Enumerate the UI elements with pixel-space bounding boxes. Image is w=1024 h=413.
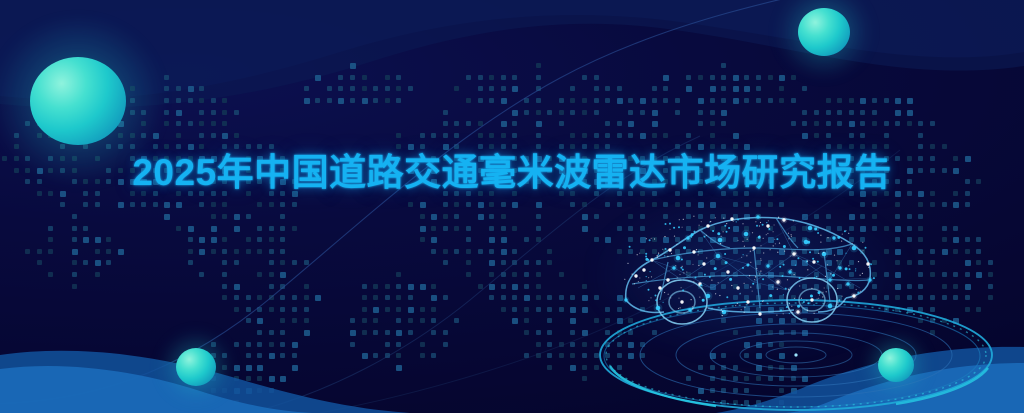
car-particle <box>867 277 874 284</box>
car-particle <box>639 253 640 254</box>
car-particle <box>632 274 633 275</box>
car-particle <box>685 235 692 242</box>
car-particle <box>665 223 667 225</box>
car-particle <box>719 295 720 296</box>
car-particle <box>770 249 771 250</box>
car-particle <box>755 221 756 222</box>
car-particle <box>735 305 736 306</box>
car-particle <box>650 258 653 261</box>
car-particle <box>682 227 683 228</box>
car-particle <box>704 292 713 301</box>
car-particle <box>816 276 817 277</box>
car-particle <box>731 285 732 286</box>
car-particle <box>711 280 712 281</box>
car-particle <box>774 239 775 240</box>
car-particle <box>706 257 707 258</box>
car-particle <box>646 276 647 277</box>
car-particle <box>700 284 702 286</box>
car-particle <box>668 294 669 295</box>
car-particle <box>658 253 659 254</box>
car-particle <box>741 309 742 310</box>
car-particle <box>817 232 819 234</box>
car-particle <box>788 233 789 234</box>
car-particle <box>743 254 744 255</box>
car-particle <box>678 298 679 299</box>
car-particle <box>795 265 796 266</box>
car-particle <box>860 275 861 276</box>
car-particle <box>841 241 842 242</box>
car-particle <box>763 300 764 301</box>
car-particle <box>693 216 694 217</box>
car-particle <box>726 223 727 224</box>
car-particle <box>729 278 732 281</box>
car-particle <box>819 294 820 295</box>
car-particle <box>692 250 695 253</box>
car-particle <box>645 258 648 261</box>
car-particle <box>822 292 823 293</box>
car-particle <box>681 287 682 288</box>
car-particle <box>744 283 745 284</box>
glow-orb-bottom-left <box>176 348 216 386</box>
car-particle <box>814 277 816 279</box>
car-particle <box>813 304 814 305</box>
car-particle <box>788 290 789 291</box>
car-particle <box>645 253 647 255</box>
car-particle <box>783 313 784 314</box>
car-particle <box>831 235 838 242</box>
car-particle <box>673 227 675 229</box>
car-particle <box>834 255 835 256</box>
car-particle <box>742 267 744 269</box>
car-particle <box>752 283 754 285</box>
car-particle <box>637 254 638 255</box>
car-particle <box>768 228 770 230</box>
car-particle <box>683 246 686 249</box>
car-particle <box>780 309 782 311</box>
car-particle <box>709 276 711 278</box>
car-particle <box>862 242 863 243</box>
car-particle <box>714 267 717 270</box>
car-particle <box>721 236 722 237</box>
car-particle <box>791 234 792 235</box>
car-particle <box>756 225 758 227</box>
car-particle <box>717 232 720 235</box>
car-particle <box>810 298 813 301</box>
car-particle <box>775 279 782 286</box>
car-particle <box>779 243 780 244</box>
car-particle <box>774 224 775 225</box>
car-particle <box>851 293 858 300</box>
car-particle <box>773 245 774 246</box>
car-particle <box>806 224 815 233</box>
car-particle <box>747 239 748 240</box>
car-particle <box>838 266 839 267</box>
car-particle <box>664 255 665 256</box>
glow-orb-top-left <box>30 57 126 145</box>
car-particle <box>782 275 784 277</box>
car-particle <box>807 269 808 270</box>
car-particle <box>669 229 670 230</box>
car-particle <box>820 242 821 243</box>
car-particle <box>678 226 680 228</box>
car-particle <box>749 275 750 276</box>
car-particle <box>742 241 743 242</box>
orb-core <box>798 8 850 56</box>
car-particle <box>658 254 659 255</box>
car-particle <box>752 246 755 249</box>
car-particle <box>694 231 696 233</box>
car-particle <box>671 265 678 272</box>
car-particle <box>795 253 796 254</box>
car-particle <box>842 234 843 235</box>
car-particle <box>858 261 859 262</box>
car-particle <box>850 244 859 253</box>
car-particle <box>768 220 769 221</box>
car-particle <box>779 266 781 268</box>
car-particle <box>696 249 697 250</box>
car-particle <box>846 230 847 231</box>
car-particle <box>797 257 799 259</box>
car-particle <box>868 267 869 268</box>
car-particle <box>759 273 760 274</box>
car-particle <box>744 312 745 313</box>
car-particle <box>739 293 740 294</box>
car-particle <box>721 309 722 310</box>
car-particle <box>657 255 658 256</box>
car-particle <box>737 219 739 221</box>
car-particle <box>654 304 663 313</box>
car-particle <box>849 268 851 270</box>
car-particle <box>814 313 815 314</box>
car-particle <box>794 274 795 275</box>
car-particle <box>812 258 814 260</box>
car-particle <box>715 217 716 218</box>
car-particle <box>724 253 726 255</box>
car-particle <box>642 268 645 271</box>
car-particle <box>791 306 792 307</box>
car-particle <box>777 252 778 253</box>
car-particle <box>811 288 812 289</box>
car-particle <box>750 287 751 288</box>
car-particle <box>650 271 651 272</box>
car-particle <box>783 245 786 248</box>
car-particle <box>692 264 693 265</box>
car-particle <box>741 257 742 258</box>
car-particle <box>736 221 737 222</box>
car-particle <box>826 302 835 311</box>
car-particle <box>857 292 859 294</box>
car-particle <box>854 244 855 245</box>
car-particle <box>755 214 762 221</box>
car-particle <box>820 250 829 259</box>
car-particle <box>722 315 723 316</box>
car-particle <box>702 299 705 302</box>
car-particle <box>634 274 637 277</box>
car-particle <box>737 303 738 304</box>
car-particle <box>855 268 856 269</box>
car-particle <box>680 267 682 269</box>
car-particle <box>681 259 683 261</box>
car-particle <box>797 305 800 308</box>
particle-car-wireframe <box>608 196 888 346</box>
car-particle <box>706 224 709 227</box>
car-particle <box>787 279 788 280</box>
car-particle <box>807 302 809 304</box>
car-particle <box>662 249 663 250</box>
car-particle <box>698 265 699 266</box>
car-particle <box>634 283 635 284</box>
car-particle <box>836 260 837 261</box>
page-title: 2025年中国道路交通毫米波雷达市场研究报告 <box>132 154 891 193</box>
car-particle <box>726 296 728 298</box>
car-particle <box>699 225 700 226</box>
car-particle <box>704 274 706 276</box>
car-particle <box>671 253 672 254</box>
car-particle <box>776 238 778 240</box>
car-particle <box>629 246 631 248</box>
car-particle <box>769 294 772 297</box>
car-particle <box>777 289 778 290</box>
car-particle <box>663 302 664 303</box>
orb-core <box>878 348 914 382</box>
car-particle <box>803 301 805 303</box>
car-particle <box>674 236 675 237</box>
car-particle <box>793 220 794 221</box>
car-particle <box>827 237 828 238</box>
car-particle <box>704 236 706 238</box>
car-particle <box>690 236 692 238</box>
car-particle <box>678 308 679 309</box>
car-particle <box>722 311 723 312</box>
glow-orb-on-radar <box>878 348 914 382</box>
car-particle <box>658 286 661 289</box>
car-particle <box>702 262 705 265</box>
car-particle <box>752 291 753 292</box>
car-particle <box>870 263 872 265</box>
car-particle <box>820 235 821 236</box>
car-particle <box>837 265 844 272</box>
report-cover-banner: 2025年中国道路交通毫米波雷达市场研究报告 <box>0 0 1024 413</box>
car-particle <box>624 279 625 280</box>
car-particle <box>818 291 821 294</box>
car-particle <box>823 252 824 253</box>
car-particle <box>687 307 694 314</box>
car-particle <box>807 261 808 262</box>
car-particle <box>623 297 630 304</box>
car-particle <box>699 297 700 298</box>
car-particle <box>655 295 657 297</box>
car-particle <box>718 282 719 283</box>
title-container: 2025年中国道路交通毫米波雷达市场研究报告 <box>0 154 1024 193</box>
car-particle <box>638 281 639 282</box>
car-particle <box>665 248 667 250</box>
car-particle <box>649 239 651 241</box>
car-particle <box>646 280 647 281</box>
car-particle <box>707 307 708 308</box>
car-particle <box>742 230 751 239</box>
car-particle <box>818 298 819 299</box>
car-particle <box>791 251 798 258</box>
car-particle <box>794 298 795 299</box>
car-particle <box>763 238 764 239</box>
car-particle <box>759 235 760 236</box>
car-particle <box>807 310 808 311</box>
car-particle <box>750 262 751 263</box>
car-particle <box>856 289 857 290</box>
car-particle <box>788 238 789 239</box>
car-particle <box>746 255 747 256</box>
car-particle <box>783 264 785 266</box>
car-particle <box>873 277 875 279</box>
car-particle <box>760 245 761 246</box>
car-particle <box>655 299 657 301</box>
car-particle <box>860 291 861 292</box>
car-particle <box>801 298 802 299</box>
car-particle <box>789 313 790 314</box>
car-particle <box>646 238 647 239</box>
car-particle <box>773 231 774 232</box>
car-particle <box>845 253 846 254</box>
car-particle <box>725 261 728 264</box>
car-particle <box>686 271 687 272</box>
car-particle <box>737 240 738 241</box>
car-particle <box>677 277 678 278</box>
car-particle <box>806 300 807 301</box>
car-particle <box>669 223 671 225</box>
car-particle <box>758 312 761 315</box>
car-particle <box>683 219 684 220</box>
car-particle <box>695 277 697 279</box>
car-particle <box>756 268 757 269</box>
car-particle <box>763 252 764 253</box>
glow-orb-top-right <box>798 8 850 56</box>
car-particle <box>790 255 791 256</box>
car-particle <box>848 233 849 234</box>
car-particle <box>827 277 834 284</box>
car-particle <box>762 278 764 280</box>
car-particle <box>832 274 835 277</box>
car-particle <box>627 263 628 264</box>
car-particle <box>693 281 694 282</box>
car-particle <box>837 236 840 239</box>
car-particle <box>715 293 716 294</box>
car-particle <box>766 224 769 227</box>
car-particle <box>755 276 756 277</box>
car-particle <box>742 223 743 224</box>
car-particle <box>814 227 817 230</box>
car-particle <box>726 270 729 273</box>
car-particle <box>676 244 677 245</box>
car-particle <box>639 277 640 278</box>
car-particle <box>754 279 755 280</box>
car-particle <box>848 265 849 266</box>
car-particle <box>720 308 729 317</box>
car-particle <box>667 256 668 257</box>
car-particle <box>817 298 818 299</box>
car-particle <box>664 236 665 237</box>
car-particle <box>812 260 815 263</box>
car-particle <box>670 297 671 298</box>
car-particle <box>650 297 651 298</box>
orb-core <box>176 348 216 386</box>
car-particle <box>648 300 649 301</box>
car-particle <box>772 286 773 287</box>
car-particle <box>645 256 647 258</box>
car-particle <box>692 306 693 307</box>
car-particle <box>845 267 848 270</box>
car-particle <box>809 251 811 253</box>
car-particle <box>726 231 728 233</box>
car-particle <box>724 225 726 227</box>
car-particle <box>716 236 725 245</box>
car-particle <box>746 264 749 267</box>
car-particle <box>760 271 761 272</box>
car-particle <box>746 300 749 303</box>
car-particle <box>679 219 680 220</box>
car-particle <box>791 236 792 237</box>
car-particle <box>744 307 745 308</box>
car-particle <box>744 246 745 247</box>
car-particle <box>682 266 683 267</box>
car-particle <box>762 224 764 226</box>
car-particle <box>862 250 863 251</box>
car-particle <box>667 280 668 281</box>
car-particle <box>701 221 702 222</box>
car-particle <box>830 273 831 274</box>
car-particle <box>759 225 760 226</box>
car-particle <box>795 309 802 316</box>
car-particle <box>750 251 751 252</box>
car-particle <box>775 243 776 244</box>
car-particle <box>781 217 788 224</box>
car-particle <box>679 274 680 275</box>
car-particle <box>651 238 652 239</box>
car-particle <box>691 299 692 300</box>
car-particle <box>682 269 684 271</box>
car-particle <box>674 254 683 263</box>
car-particle <box>736 286 739 289</box>
car-particle <box>698 251 699 252</box>
car-particle <box>760 258 761 259</box>
car-particle <box>784 251 785 252</box>
car-particle <box>682 289 684 291</box>
car-particle <box>866 262 869 265</box>
car-particle <box>786 306 788 308</box>
car-particle <box>817 261 819 263</box>
car-particle <box>767 233 768 234</box>
car-particle <box>791 269 792 270</box>
car-particle <box>766 234 767 235</box>
car-particle <box>760 222 761 223</box>
car-particle <box>654 238 655 239</box>
car-particle <box>845 281 852 288</box>
car-particle <box>818 253 819 254</box>
car-particle <box>778 217 779 218</box>
car-particle <box>720 243 721 244</box>
car-particle <box>680 307 681 308</box>
car-particle <box>753 250 754 251</box>
car-particle <box>692 308 693 309</box>
car-particle <box>792 312 793 313</box>
car-particle <box>710 221 711 222</box>
car-particle <box>683 272 684 273</box>
car-particle <box>837 288 838 289</box>
car-particle <box>838 302 839 303</box>
car-particle <box>723 231 724 232</box>
car-particle <box>825 276 826 277</box>
car-particle <box>799 277 801 279</box>
car-particle <box>822 296 823 297</box>
